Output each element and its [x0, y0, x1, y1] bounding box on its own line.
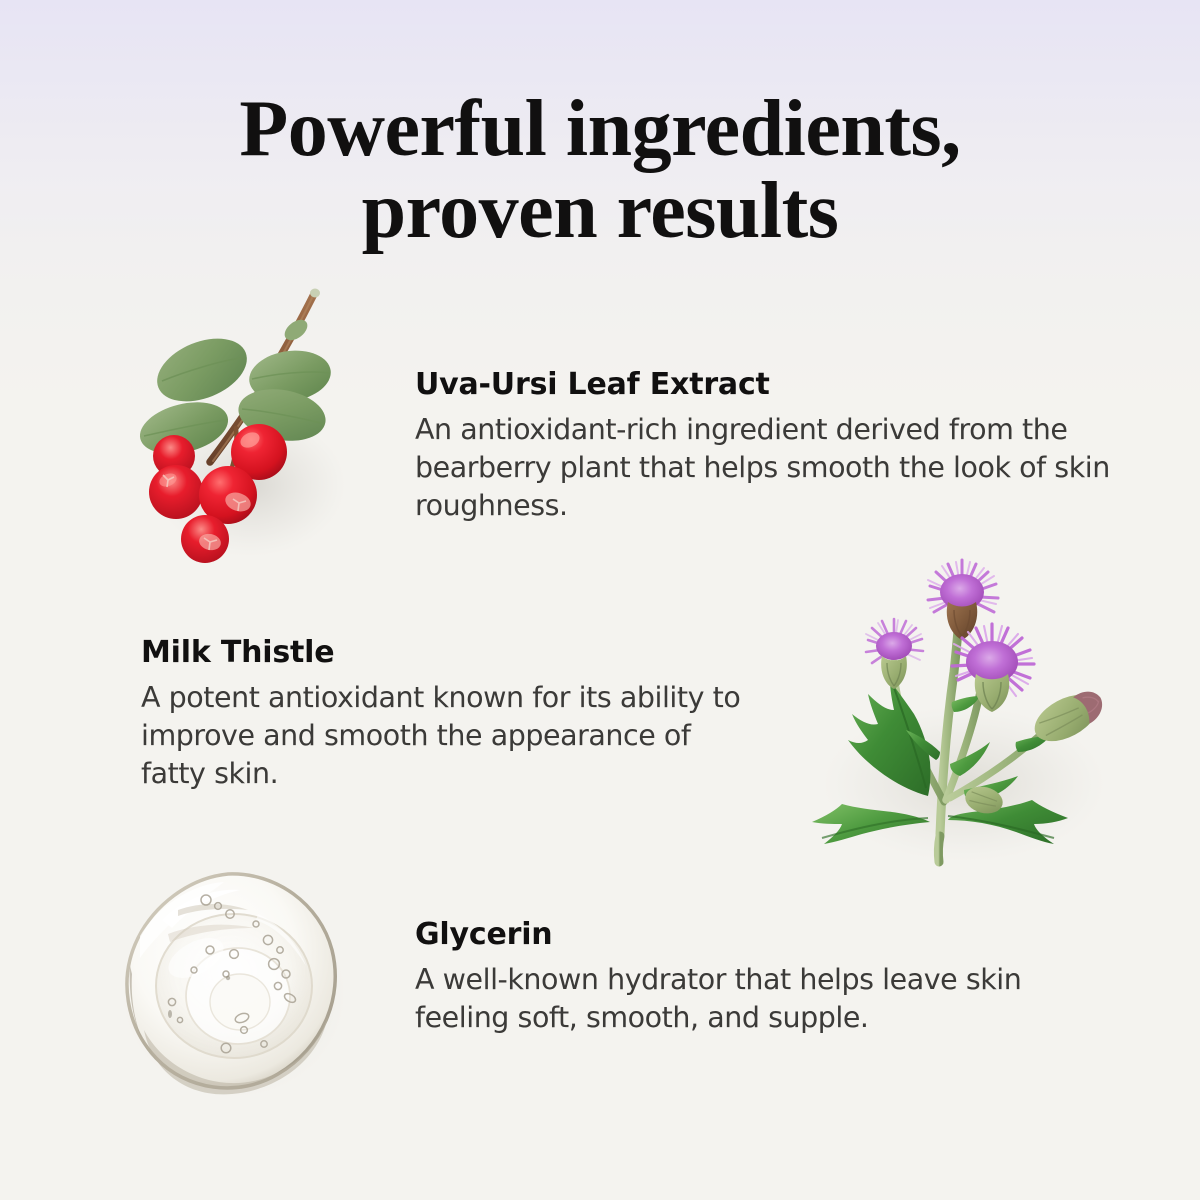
- page-title-line-1: Powerful ingredients,: [239, 85, 960, 173]
- glycerin-gel-image: [108, 862, 358, 1112]
- ingredient-description: A potent antioxidant known for its abili…: [141, 679, 761, 794]
- ingredient-description: An antioxidant-rich ingredient derived f…: [415, 411, 1115, 526]
- bearberry-leaf: [148, 326, 256, 413]
- ingredient-block-uva-ursi: Uva-Ursi Leaf Extract An antioxidant-ric…: [415, 368, 1115, 526]
- ingredient-title: Milk Thistle: [141, 636, 761, 669]
- ingredient-title: Glycerin: [415, 918, 1035, 951]
- ingredient-description: A well-known hydrator that helps leave s…: [415, 961, 1035, 1037]
- thistle-bract: [947, 602, 977, 640]
- page-title: Powerful ingredients, proven results: [0, 88, 1200, 253]
- glycerin-bubble-dark: [226, 976, 230, 980]
- ingredient-block-milk-thistle: Milk Thistle A potent antioxidant known …: [141, 636, 761, 794]
- bearberry-sprig-image: [118, 280, 418, 580]
- ingredient-block-glycerin: Glycerin A well-known hydrator that help…: [415, 918, 1035, 1037]
- bearberry-stem-tip: [310, 289, 320, 298]
- thistle-flower: [928, 560, 998, 640]
- milk-thistle-image: [778, 552, 1128, 872]
- ingredients-infographic: Powerful ingredients, proven results: [0, 0, 1200, 1200]
- glycerin-inner-ring: [210, 974, 270, 1030]
- thistle-flower: [866, 619, 923, 689]
- glycerin-bubble-dark: [168, 1010, 172, 1018]
- bearberry-berry: [149, 465, 203, 519]
- ingredient-title: Uva-Ursi Leaf Extract: [415, 368, 1115, 401]
- page-title-line-2: proven results: [0, 170, 1200, 252]
- thistle-bract: [881, 656, 907, 689]
